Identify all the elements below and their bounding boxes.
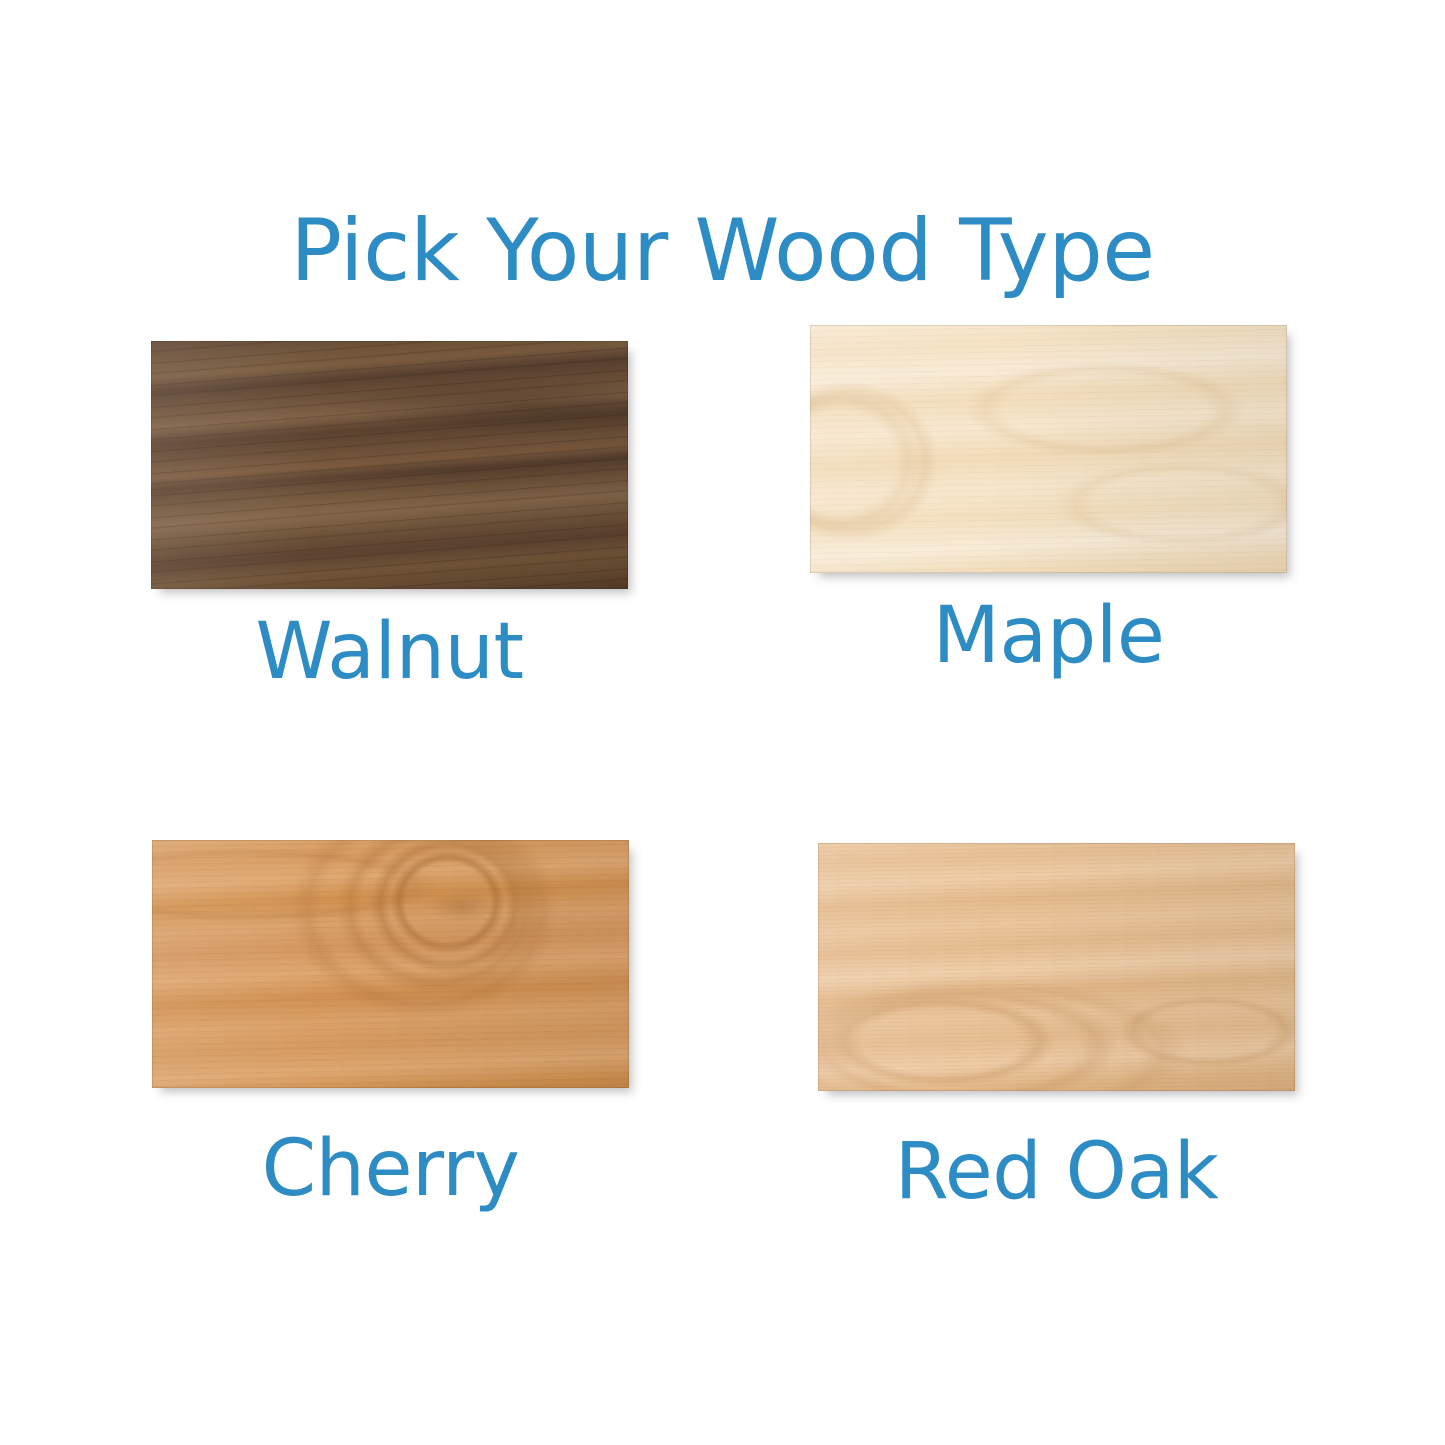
wood-option-walnut[interactable]: Walnut <box>151 341 628 589</box>
maple-grain-texture <box>810 325 1287 573</box>
walnut-grain-texture <box>151 341 628 589</box>
wood-option-maple[interactable]: Maple <box>810 325 1287 573</box>
wood-option-cherry[interactable]: Cherry <box>152 840 629 1088</box>
page-title: Pick Your Wood Type <box>0 206 1445 296</box>
wood-type-selector-page: Pick Your Wood Type Walnut Maple Cherry <box>0 0 1445 1445</box>
cherry-wood-swatch[interactable] <box>152 840 629 1088</box>
red-oak-wood-swatch[interactable] <box>818 843 1295 1091</box>
wood-option-label-red-oak: Red Oak <box>818 1133 1295 1211</box>
walnut-wood-swatch[interactable] <box>151 341 628 589</box>
wood-option-label-walnut: Walnut <box>151 613 628 691</box>
wood-option-red-oak[interactable]: Red Oak <box>818 843 1295 1091</box>
wood-option-label-maple: Maple <box>810 597 1287 675</box>
cherry-grain-texture <box>152 840 629 1088</box>
wood-option-label-cherry: Cherry <box>152 1130 629 1208</box>
red-oak-grain-texture <box>818 843 1295 1091</box>
maple-wood-swatch[interactable] <box>810 325 1287 573</box>
